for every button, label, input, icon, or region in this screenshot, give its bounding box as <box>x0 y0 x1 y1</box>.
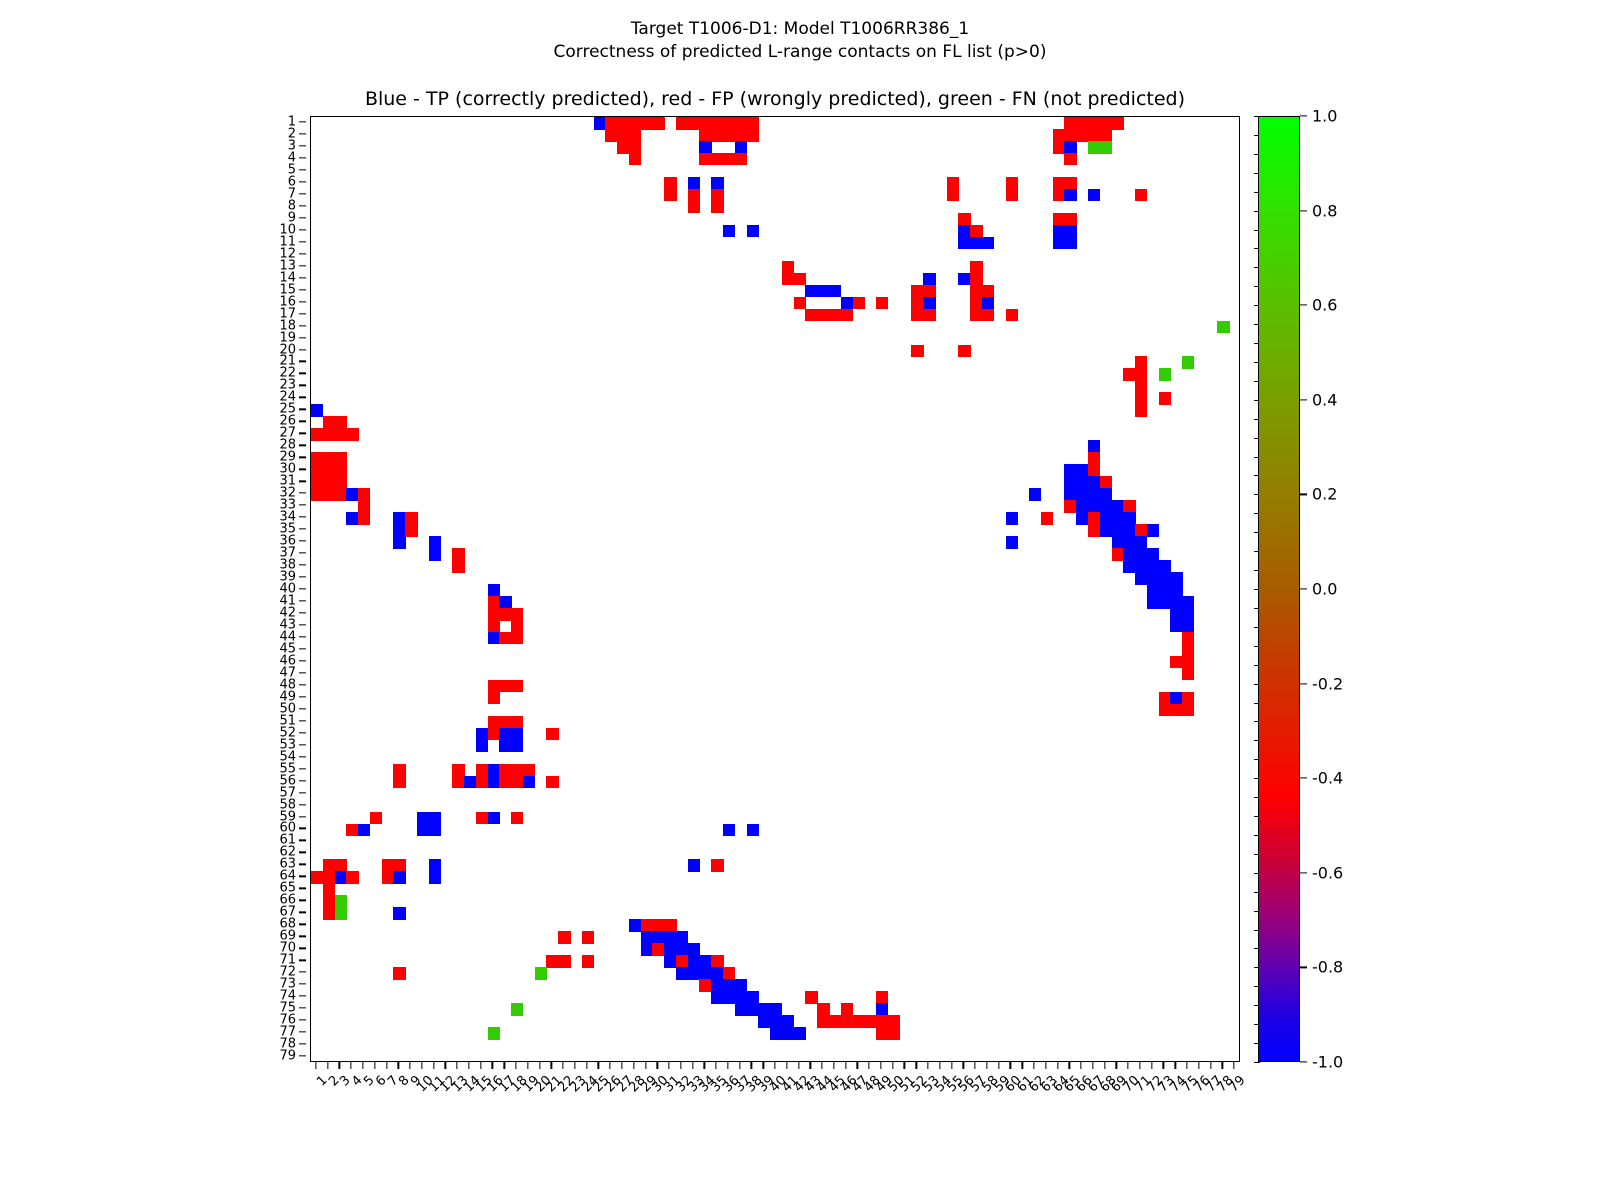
heatmap-cell <box>1064 500 1076 513</box>
heatmap-cell <box>511 620 523 633</box>
heatmap-cell <box>1170 608 1182 621</box>
colorbar-tick-label: 0.0 <box>1312 580 1337 599</box>
heatmap-cell <box>488 728 500 741</box>
heatmap-cell <box>664 943 676 956</box>
heatmap-cell <box>1170 656 1182 669</box>
heatmap-cell <box>594 117 606 130</box>
heatmap-cell <box>558 955 570 968</box>
heatmap-cell <box>1123 524 1135 537</box>
heatmap-cell <box>664 931 676 944</box>
y-axis-tick-mark <box>299 433 306 434</box>
heatmap-cell <box>817 285 829 298</box>
heatmap-cell <box>1182 620 1194 633</box>
x-axis-tick-mark <box>1233 1062 1234 1069</box>
heatmap-cell <box>711 991 723 1004</box>
heatmap-cell <box>335 416 347 429</box>
heatmap-cell <box>923 309 935 322</box>
heatmap-cell <box>311 404 323 417</box>
heatmap-cell <box>735 991 747 1004</box>
colorbar-tick-label: 0.4 <box>1312 390 1337 409</box>
heatmap-cell <box>911 297 923 310</box>
y-axis-tick-mark <box>299 600 306 601</box>
heatmap-cell <box>499 716 511 729</box>
heatmap-cell <box>664 177 676 190</box>
y-axis-tick-mark <box>299 528 306 529</box>
heatmap-cell <box>970 237 982 250</box>
heatmap-cell <box>629 153 641 166</box>
heatmap-cell <box>676 967 688 980</box>
heatmap-cell <box>1135 548 1147 561</box>
x-axis-tick-mark <box>1163 1062 1164 1069</box>
heatmap-cell <box>1100 117 1112 130</box>
x-axis-tick-mark <box>645 1062 646 1069</box>
y-axis-tick-mark <box>299 960 306 961</box>
heatmap-cell <box>1064 189 1076 202</box>
x-axis-tick-mark <box>1222 1062 1223 1069</box>
y-axis-tick-mark <box>299 804 306 805</box>
heatmap-cell <box>876 1027 888 1040</box>
heatmap-cell <box>1170 596 1182 609</box>
heatmap-cell <box>947 189 959 202</box>
x-axis-tick-mark <box>810 1062 811 1069</box>
heatmap-cell <box>723 967 735 980</box>
heatmap-cell <box>1064 237 1076 250</box>
heatmap-cell <box>429 812 441 825</box>
x-axis-tick-mark <box>857 1062 858 1069</box>
x-axis-tick-mark <box>798 1062 799 1069</box>
heatmap-cell <box>864 1015 876 1028</box>
y-axis-tick-mark <box>299 828 306 829</box>
heatmap-cell <box>617 129 629 142</box>
y-axis-tick-mark <box>299 756 306 757</box>
heatmap-cell <box>1135 189 1147 202</box>
colorbar-tick-label: -1.0 <box>1312 1053 1343 1072</box>
heatmap-cell <box>393 776 405 789</box>
heatmap-cell <box>1123 368 1135 381</box>
y-axis-tick-mark <box>299 469 306 470</box>
heatmap-cell <box>393 859 405 872</box>
x-axis-tick-mark <box>927 1062 928 1069</box>
heatmap-cell <box>1064 117 1076 130</box>
heatmap-cell <box>1135 536 1147 549</box>
y-axis-tick-mark <box>299 936 306 937</box>
heatmap-cell <box>735 979 747 992</box>
heatmap-cell <box>488 680 500 693</box>
colorbar-tick-mark <box>1300 778 1307 779</box>
heatmap-cell <box>429 859 441 872</box>
heatmap-cell <box>1170 584 1182 597</box>
x-axis-tick-mark <box>704 1062 705 1069</box>
heatmap-cell <box>476 740 488 753</box>
x-axis-tick-mark <box>398 1062 399 1069</box>
heatmap-cell <box>323 416 335 429</box>
heatmap-cell <box>1100 500 1112 513</box>
x-axis-tick-mark <box>1175 1062 1176 1069</box>
heatmap-cell <box>1053 213 1065 226</box>
heatmap-cell <box>970 309 982 322</box>
heatmap-cell <box>1064 129 1076 142</box>
heatmap-cell <box>1053 129 1065 142</box>
heatmap-cell <box>1064 488 1076 501</box>
y-axis-tick-mark <box>299 516 306 517</box>
heatmap-cell <box>711 129 723 142</box>
heatmap-cell <box>664 955 676 968</box>
y-axis-tick-mark <box>299 373 306 374</box>
heatmap-cell <box>735 153 747 166</box>
x-axis-tick-mark <box>456 1062 457 1069</box>
heatmap-cell <box>982 297 994 310</box>
heatmap-cell <box>641 919 653 932</box>
heatmap-cell <box>1053 189 1065 202</box>
y-axis-tick-mark <box>299 672 306 673</box>
heatmap-cell <box>511 812 523 825</box>
heatmap-cell <box>511 680 523 693</box>
heatmap-cell <box>452 548 464 561</box>
heatmap-cell <box>511 776 523 789</box>
y-axis-tick-mark <box>299 924 306 925</box>
x-axis-tick-mark <box>974 1062 975 1069</box>
x-axis-tick-mark <box>1010 1062 1011 1069</box>
heatmap-cell <box>1064 141 1076 154</box>
heatmap-cell <box>417 812 429 825</box>
heatmap-cell <box>382 859 394 872</box>
heatmap-cell <box>311 464 323 477</box>
heatmap-cell <box>1135 380 1147 393</box>
y-axis-tick-mark <box>299 229 306 230</box>
heatmap-cell <box>876 1003 888 1016</box>
heatmap-cell <box>688 967 700 980</box>
heatmap-cell <box>1064 225 1076 238</box>
y-axis-tick-mark <box>299 912 306 913</box>
heatmap-cell <box>794 1027 806 1040</box>
heatmap-cell <box>805 285 817 298</box>
heatmap-cell <box>393 871 405 884</box>
y-axis-tick-mark <box>299 948 306 949</box>
heatmap-cell <box>805 991 817 1004</box>
y-axis-tick-mark <box>299 121 306 122</box>
x-axis-tick-mark <box>1186 1062 1187 1069</box>
heatmap-cell <box>664 189 676 202</box>
heatmap-cell <box>1076 476 1088 489</box>
heatmap-cell <box>923 285 935 298</box>
y-axis-tick-mark <box>299 852 306 853</box>
heatmap-cell <box>323 871 335 884</box>
heatmap-cell <box>523 764 535 777</box>
heatmap-cell <box>688 859 700 872</box>
heatmap-cell <box>652 943 664 956</box>
y-axis-tick-mark <box>299 457 306 458</box>
heatmap-cell <box>335 488 347 501</box>
heatmap-cell <box>1123 560 1135 573</box>
heatmap-cell <box>1170 572 1182 585</box>
heatmap-cell <box>1135 524 1147 537</box>
heatmap-cell <box>1123 512 1135 525</box>
y-axis-tick-mark <box>299 636 306 637</box>
heatmap-cell <box>641 943 653 956</box>
heatmap-cell <box>1123 500 1135 513</box>
y-axis-tick-mark <box>299 720 306 721</box>
heatmap-cell <box>747 129 759 142</box>
heatmap-cell <box>1135 404 1147 417</box>
heatmap-cell <box>817 1003 829 1016</box>
heatmap-cell <box>1088 117 1100 130</box>
y-axis-tick-mark <box>299 265 306 266</box>
colorbar-tick-labels: 1.00.80.60.40.20.0-0.2-0.4-0.6-0.8-1.0 <box>1300 116 1480 1062</box>
y-axis-tick-mark <box>299 337 306 338</box>
heatmap-cell <box>1088 476 1100 489</box>
y-axis-tick-mark <box>299 816 306 817</box>
heatmap-cell <box>758 1015 770 1028</box>
heatmap-cell <box>817 1015 829 1028</box>
x-axis-tick-mark <box>445 1062 446 1069</box>
heatmap-cell <box>829 285 841 298</box>
heatmap-cell <box>688 955 700 968</box>
x-axis-tick-mark <box>315 1062 316 1069</box>
x-axis-tick-mark <box>727 1062 728 1069</box>
heatmap-cell <box>335 476 347 489</box>
x-axis-tick-mark <box>986 1062 987 1069</box>
heatmap-cell <box>782 1015 794 1028</box>
heatmap-cell <box>711 979 723 992</box>
heatmap-cell <box>735 117 747 130</box>
colorbar-tick-label: -0.4 <box>1312 769 1343 788</box>
heatmap-cell <box>1100 476 1112 489</box>
title-line-1: Target T1006-D1: Model T1006RR386_1 <box>0 18 1600 41</box>
colorbar-tick-label: 0.6 <box>1312 296 1337 315</box>
y-axis-tick-mark <box>299 576 306 577</box>
heatmap-cell <box>641 117 653 130</box>
heatmap-cell <box>535 967 547 980</box>
heatmap-cell <box>488 608 500 621</box>
heatmap-cell <box>488 812 500 825</box>
y-axis-tick-mark <box>299 888 306 889</box>
heatmap-cell <box>617 141 629 154</box>
heatmap-cell <box>1135 560 1147 573</box>
heatmap-cell <box>829 309 841 322</box>
heatmap-cell <box>323 452 335 465</box>
x-axis-tick-mark <box>598 1062 599 1069</box>
heatmap-cell <box>1135 392 1147 405</box>
colorbar-tick-mark <box>1300 683 1307 684</box>
heatmap-cell <box>1064 464 1076 477</box>
x-axis-tick-mark <box>539 1062 540 1069</box>
heatmap-cell <box>1006 177 1018 190</box>
heatmap-cell <box>1112 524 1124 537</box>
x-axis-tick-mark <box>880 1062 881 1069</box>
heatmap-cell <box>323 895 335 908</box>
heatmap-cell <box>652 919 664 932</box>
heatmap-cell <box>546 955 558 968</box>
heatmap-cell <box>1147 596 1159 609</box>
heatmap-cell <box>311 452 323 465</box>
colorbar-tick-mark <box>1300 967 1307 968</box>
heatmap-cell <box>499 728 511 741</box>
colorbar-tick-mark <box>1300 305 1307 306</box>
heatmap-cell <box>1159 692 1171 705</box>
heatmap-cell <box>488 776 500 789</box>
heatmap-cell <box>958 237 970 250</box>
heatmap-cell <box>1182 356 1194 369</box>
heatmap-cell <box>488 632 500 645</box>
y-axis-tick-mark <box>299 385 306 386</box>
contact-map-plot-area[interactable] <box>310 116 1240 1062</box>
heatmap-cell <box>1112 512 1124 525</box>
heatmap-cell <box>346 871 358 884</box>
heatmap-cell <box>346 512 358 525</box>
heatmap-cell <box>1182 608 1194 621</box>
heatmap-cell <box>511 728 523 741</box>
heatmap-cell <box>1029 488 1041 501</box>
colorbar-tick-label: 0.8 <box>1312 201 1337 220</box>
heatmap-cell <box>546 776 558 789</box>
y-axis-tick-mark <box>299 900 306 901</box>
x-axis-tick-mark <box>1198 1062 1199 1069</box>
x-axis-tick-mark <box>692 1062 693 1069</box>
heatmap-cell <box>711 967 723 980</box>
heatmap-cell <box>1170 692 1182 705</box>
heatmap-cell <box>393 536 405 549</box>
heatmap-cell <box>323 883 335 896</box>
heatmap-cell <box>511 632 523 645</box>
heatmap-cell <box>888 1015 900 1028</box>
heatmap-cell <box>311 488 323 501</box>
x-axis-tick-mark <box>1116 1062 1117 1069</box>
heatmap-cell <box>970 261 982 274</box>
x-axis-tick-mark <box>574 1062 575 1069</box>
heatmap-cell <box>358 824 370 837</box>
heatmap-cell <box>335 859 347 872</box>
y-axis-tick-mark <box>299 864 306 865</box>
heatmap-cell <box>1088 440 1100 453</box>
y-axis-tick-mark <box>299 708 306 709</box>
heatmap-cell <box>629 129 641 142</box>
heatmap-cell <box>499 764 511 777</box>
heatmap-cell <box>747 824 759 837</box>
heatmap-cell <box>947 177 959 190</box>
heatmap-cell <box>405 524 417 537</box>
heatmap-cell <box>358 500 370 513</box>
y-axis-tick-mark <box>299 1043 306 1044</box>
x-axis-tick-mark <box>1080 1062 1081 1069</box>
heatmap-cell <box>393 512 405 525</box>
heatmap-cell <box>1159 584 1171 597</box>
heatmap-cell <box>958 213 970 226</box>
title-line-2: Correctness of predicted L-range contact… <box>0 41 1600 64</box>
heatmap-cell <box>1088 141 1100 154</box>
x-axis-tick-mark <box>998 1062 999 1069</box>
heatmap-cell <box>311 428 323 441</box>
x-axis-tick-mark <box>821 1062 822 1069</box>
y-axis-tick-mark <box>299 421 306 422</box>
y-axis-tick-mark <box>299 612 306 613</box>
heatmap-cell <box>393 524 405 537</box>
colorbar-minor-tick <box>1254 1062 1260 1063</box>
x-axis-tick-mark <box>774 1062 775 1069</box>
heatmap-cell <box>829 1015 841 1028</box>
heatmap-cell <box>747 1003 759 1016</box>
x-axis-tick-mark <box>351 1062 352 1069</box>
x-axis-tick-mark <box>610 1062 611 1069</box>
heatmap-cell <box>1123 536 1135 549</box>
y-axis-tick-mark <box>299 780 306 781</box>
heatmap-cell <box>488 620 500 633</box>
heatmap-cell <box>1064 213 1076 226</box>
heatmap-cell <box>841 1003 853 1016</box>
heatmap-cell <box>982 309 994 322</box>
colorbar-tick-mark <box>1300 399 1307 400</box>
heatmap-cell <box>1112 548 1124 561</box>
x-axis-tick-mark <box>1022 1062 1023 1069</box>
colorbar-tick-mark <box>1300 115 1307 116</box>
heatmap-cell <box>1053 237 1065 250</box>
y-axis-tick-mark <box>299 552 306 553</box>
heatmap-cell <box>346 488 358 501</box>
heatmap-cell <box>970 273 982 286</box>
y-axis-tick-mark <box>299 301 306 302</box>
heatmap-cell <box>652 931 664 944</box>
heatmap-cell <box>1006 536 1018 549</box>
heatmap-cell <box>499 632 511 645</box>
heatmap-cell <box>735 1003 747 1016</box>
heatmap-cell <box>605 117 617 130</box>
heatmap-cell <box>511 764 523 777</box>
colorbar-tick-mark <box>1300 210 1307 211</box>
heatmap-cell <box>1064 177 1076 190</box>
heatmap-cell <box>1076 488 1088 501</box>
heatmap-cell <box>1123 548 1135 561</box>
x-axis-tick-mark <box>1210 1062 1211 1069</box>
heatmap-cell <box>982 237 994 250</box>
heatmap-cell <box>629 919 641 932</box>
colorbar-minor-ticks <box>1240 116 1260 1062</box>
x-axis-tick-mark <box>892 1062 893 1069</box>
heatmap-cell <box>1041 512 1053 525</box>
heatmap-cell <box>1159 596 1171 609</box>
heatmap-cell <box>1088 129 1100 142</box>
x-axis-tick-mark <box>551 1062 552 1069</box>
heatmap-cell <box>911 285 923 298</box>
heatmap-cell <box>711 201 723 214</box>
heatmap-cell <box>429 536 441 549</box>
heatmap-cell <box>853 297 865 310</box>
heatmap-cell <box>699 117 711 130</box>
heatmap-cell <box>1170 620 1182 633</box>
heatmap-cell <box>511 740 523 753</box>
heatmap-cell <box>1182 632 1194 645</box>
heatmap-cells <box>311 117 1239 1061</box>
x-axis-tick-mark <box>786 1062 787 1069</box>
y-axis-tick-mark <box>299 289 306 290</box>
heatmap-cell <box>1088 452 1100 465</box>
y-axis-tick-mark <box>299 876 306 877</box>
colorbar-tick-mark <box>1300 1061 1307 1062</box>
heatmap-cell <box>641 931 653 944</box>
heatmap-cell <box>1112 117 1124 130</box>
y-axis-tick-mark <box>299 277 306 278</box>
x-axis-tick-mark <box>492 1062 493 1069</box>
heatmap-cell <box>1006 189 1018 202</box>
x-axis-tick-mark <box>515 1062 516 1069</box>
heatmap-cell <box>311 476 323 489</box>
heatmap-cell <box>429 871 441 884</box>
heatmap-cell <box>511 1003 523 1016</box>
heatmap-cell <box>841 309 853 322</box>
heatmap-cell <box>688 943 700 956</box>
y-axis-tick-mark <box>299 792 306 793</box>
heatmap-cell <box>1076 500 1088 513</box>
x-axis-tick-mark <box>1033 1062 1034 1069</box>
x-axis-tick-mark <box>751 1062 752 1069</box>
